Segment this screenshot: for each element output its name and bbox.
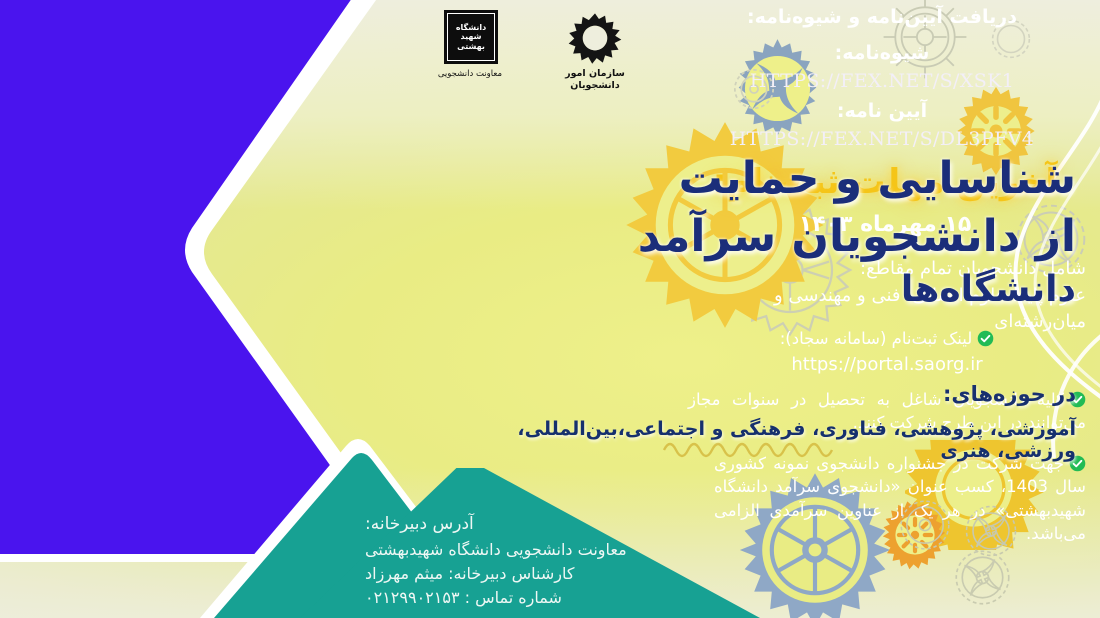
secretariat-expert: کارشناس دبیرخانه: میثم مهرزاد [365, 562, 685, 586]
download-heading: دریافت آیین‌نامه و شیوه‌نامه: [682, 6, 1082, 28]
logo-group: دانشگاه شهید بهشتی معاونت دانشجویی سازما… [440, 4, 660, 112]
title-line-1: شناسایی و حمایت [679, 153, 1076, 204]
poster-title: شناسایی و حمایت از دانشجویان سرآمد دانشگ… [556, 150, 1076, 314]
logo-shahid-beheshti: دانشگاه شهید بهشتی معاونت دانشجویی [440, 10, 502, 79]
ayinname-url[interactable]: HTTPS://FEX.NET/S/DL3PFV4 [682, 128, 1082, 150]
logo-mark-text: دانشگاه شهید بهشتی [447, 13, 495, 61]
secretariat-address: معاونت دانشجویی دانشگاه شهیدبهشتی [365, 538, 685, 562]
check-circle-icon [977, 330, 994, 347]
bullet-item-registration: لینک ثبت‌نام (سامانه سجاد): https://port… [688, 327, 1086, 378]
title-line-2: از دانشجویان سرآمد [638, 211, 1076, 262]
secretariat-block: آدرس دبیرخانه: معاونت دانشجویی دانشگاه ش… [365, 512, 685, 611]
logo-student-affairs-org: سازمان امور دانشجویان [535, 10, 655, 92]
logo-caption-org-line2: دانشجویان [535, 80, 655, 92]
fields-body: آموزشی، پژوهشی، فناوری، فرهنگی و اجتماعی… [456, 418, 1076, 462]
bullet-item-festival: جهت شرکت در جشنواره دانشجوی نمونه کشوری … [714, 452, 1086, 546]
shivename-url[interactable]: HTTPS://FEX.NET/S/XSK1 [682, 70, 1082, 92]
title-line-3: دانشگاه‌ها [556, 266, 1076, 314]
shivename-label: شیوه‌نامه: [682, 42, 1082, 64]
fields-label: در حوزه‌های: [556, 382, 1076, 406]
bullet-text: جهت شرکت در جشنواره دانشجوی نمونه کشوری … [714, 454, 1086, 543]
secretariat-phone: شماره تماس : ۰۲۱۲۹۹۰۲۱۵۳ [365, 586, 685, 610]
shahid-beheshti-square-logo: دانشگاه شهید بهشتی [444, 10, 498, 64]
logo-caption-org-line1: سازمان امور [535, 68, 655, 80]
bullet-text: لینک ثبت‌نام (سامانه سجاد): [780, 329, 973, 348]
logo-caption-university: معاونت دانشجویی [440, 69, 502, 79]
registration-link[interactable]: https://portal.saorg.ir [688, 352, 1086, 378]
starburst-ring-logo [564, 10, 626, 66]
poster-canvas: دانشگاه شهید بهشتی معاونت دانشجویی سازما… [0, 0, 1100, 618]
ayinname-label: آیین نامه: [682, 100, 1082, 122]
secretariat-address-label: آدرس دبیرخانه: [365, 512, 685, 538]
